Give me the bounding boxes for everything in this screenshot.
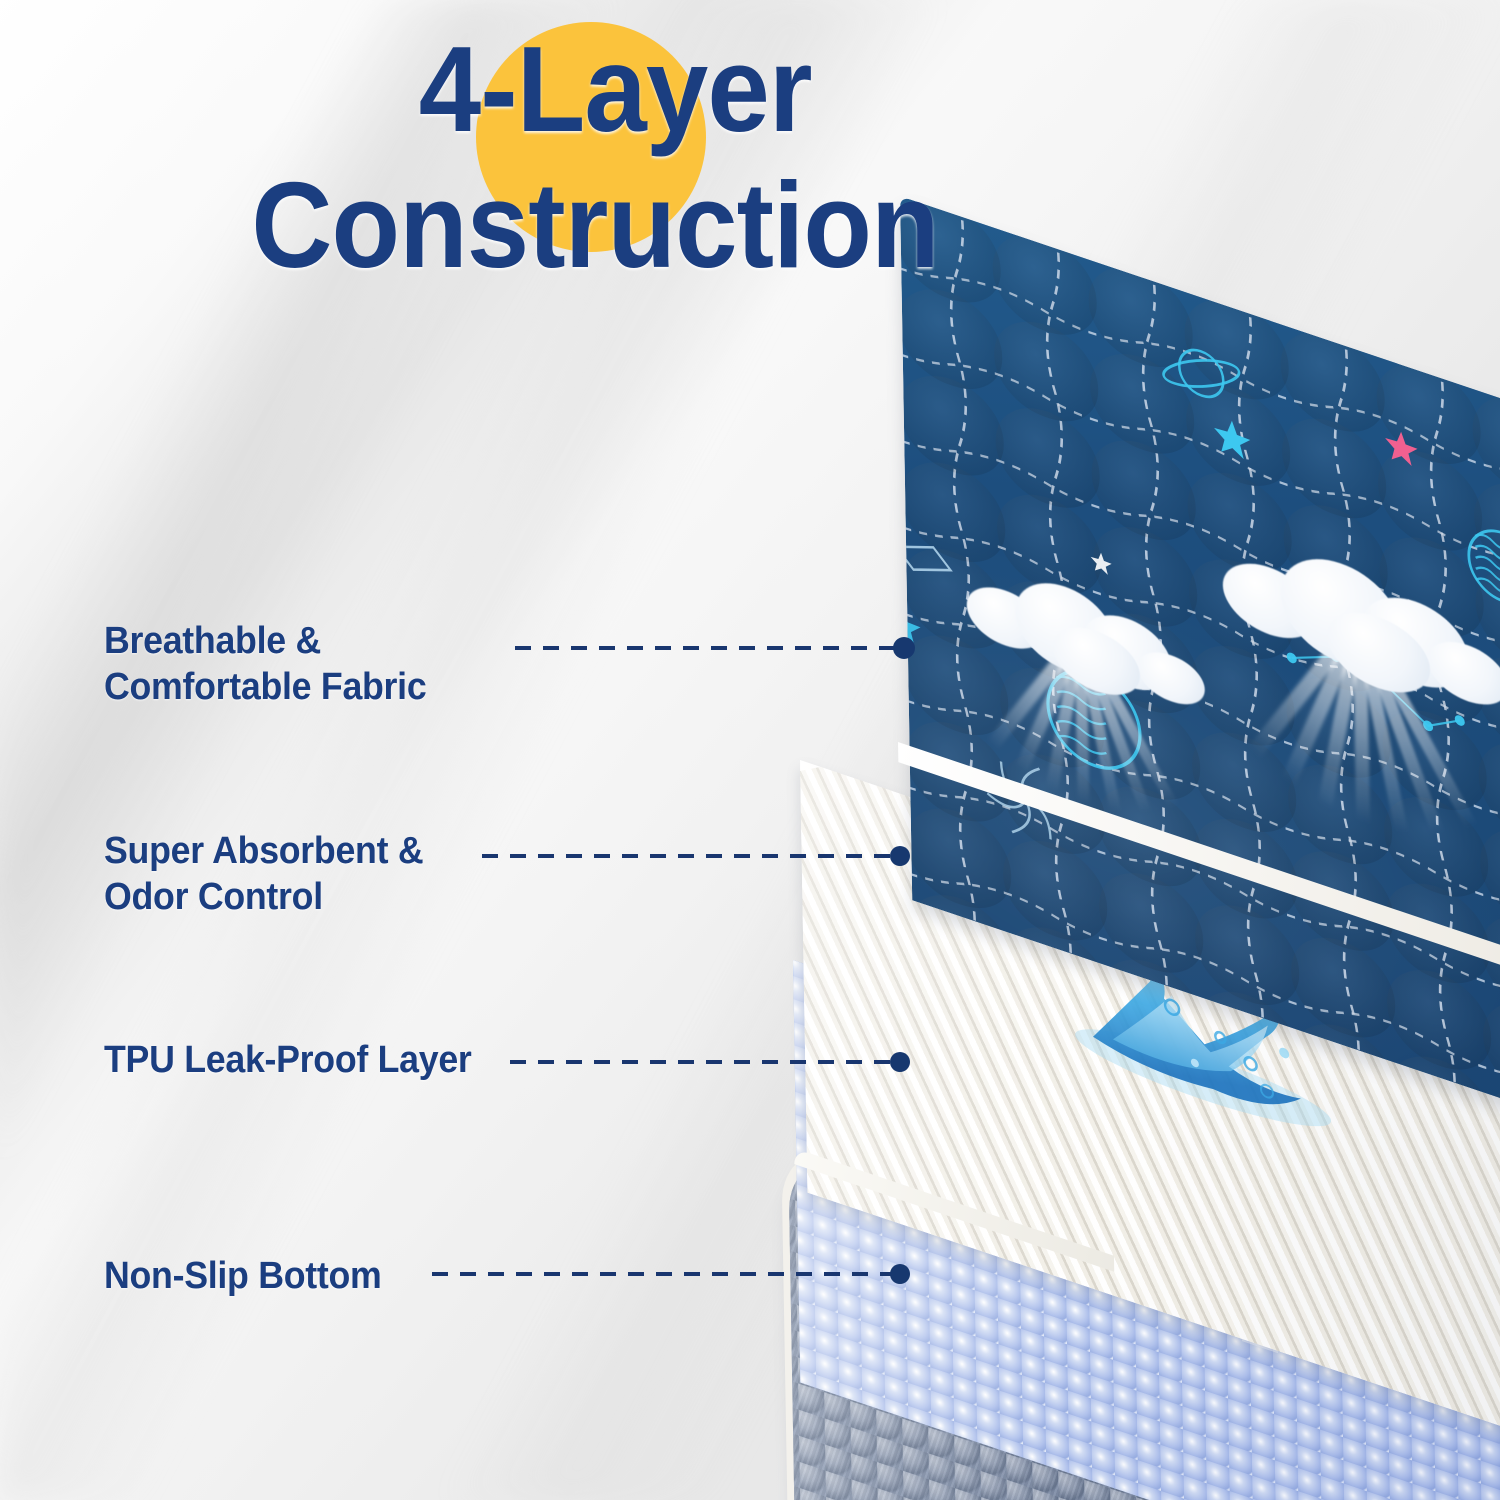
star-motif-white — [1091, 549, 1112, 576]
leader-line-breathable-fabric — [515, 646, 915, 650]
leader-endpoint-dot — [893, 637, 915, 659]
layer-label-super-absorbent: Super Absorbent & Odor Control — [104, 828, 423, 921]
leader-dash — [482, 854, 896, 858]
leader-dash — [510, 1060, 896, 1064]
cloud-puff — [1428, 631, 1500, 714]
layer-label-non-slip-bottom: Non-Slip Bottom — [104, 1253, 382, 1299]
saturn-body — [1179, 344, 1224, 403]
page-title: 4-Layer Construction — [0, 28, 1190, 286]
leader-dash — [432, 1272, 896, 1276]
star-motif-pink — [1385, 426, 1418, 468]
leader-endpoint-dot — [890, 846, 910, 866]
leader-dash — [515, 646, 901, 650]
leader-endpoint-dot — [890, 1264, 910, 1284]
saturn-ring — [1159, 358, 1243, 389]
rocket-outline — [900, 532, 951, 583]
cloud-puff — [1137, 644, 1204, 713]
title-line-2: Construction — [48, 164, 1143, 286]
leader-endpoint-dot — [890, 1052, 910, 1072]
title-line-1: 4-Layer — [48, 28, 1143, 150]
layer-label-breathable-fabric: Breathable & Comfortable Fabric — [104, 618, 426, 711]
leader-line-tpu-leak-proof — [510, 1060, 910, 1064]
leader-line-non-slip-bottom — [432, 1272, 910, 1276]
star-motif-cyan — [1214, 415, 1251, 462]
leader-line-super-absorbent — [482, 854, 910, 858]
layer-label-tpu-leak-proof: TPU Leak-Proof Layer — [104, 1037, 472, 1083]
